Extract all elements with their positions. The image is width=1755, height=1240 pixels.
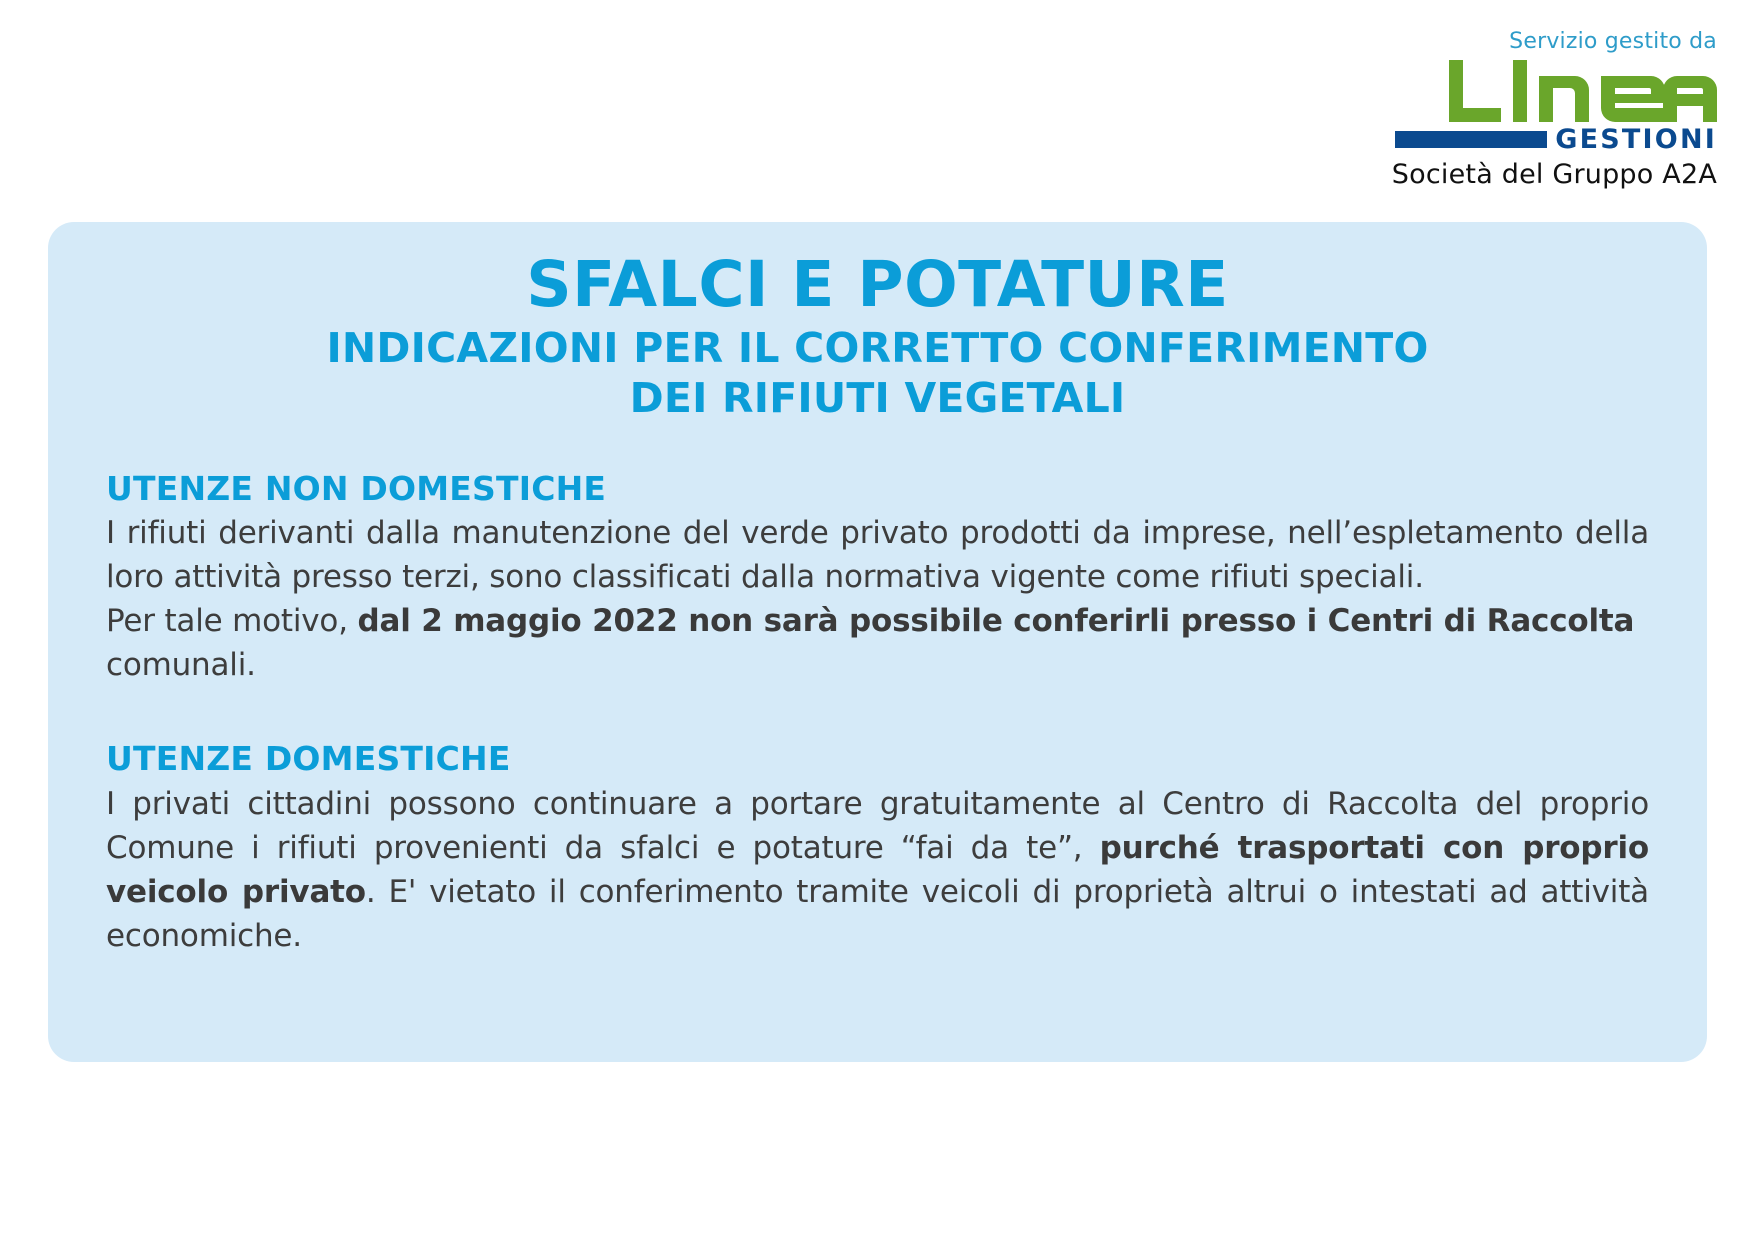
gestioni-row: GESTIONI	[1392, 126, 1717, 153]
paragraph-non-domestiche-1: I rifiuti derivanti dalla manutenzione d…	[106, 511, 1649, 599]
section-utenze-domestiche: UTENZE DOMESTICHE I privati cittadini po…	[106, 739, 1649, 958]
section-heading-domestiche: UTENZE DOMESTICHE	[106, 739, 1649, 779]
gestioni-label: GESTIONI	[1555, 126, 1717, 153]
text-run: Per tale motivo,	[106, 603, 358, 639]
logo-blue-bar	[1395, 131, 1547, 148]
linea-wordmark-icon	[1392, 60, 1717, 122]
page-subtitle-line-1: INDICAZIONI PER IL CORRETTO CONFERIMENTO	[106, 323, 1649, 373]
societa-gruppo-label: Società del Gruppo A2A	[1392, 160, 1717, 190]
paragraph-domestiche-1: I privati cittadini possono continuare a…	[106, 782, 1649, 958]
page-title: SFALCI E POTATURE	[106, 250, 1649, 321]
info-panel: SFALCI E POTATURE INDICAZIONI PER IL COR…	[48, 222, 1707, 1062]
text-run: comunali.	[106, 647, 256, 683]
text-run-bold: dal 2 maggio 2022 non sarà possibile con…	[358, 603, 1635, 639]
paragraph-non-domestiche-2: Per tale motivo, dal 2 maggio 2022 non s…	[106, 599, 1649, 687]
page-subtitle-line-2: DEI RIFIUTI VEGETALI	[106, 373, 1649, 423]
header-logo-block: Servizio gestito da GEST	[1295, 0, 1755, 190]
linea-gestioni-logo: GESTIONI Società del Gruppo A2A	[1392, 60, 1717, 190]
servizio-gestito-label: Servizio gestito da	[1295, 30, 1717, 54]
text-run: I rifiuti derivanti dalla manutenzione d…	[106, 515, 1649, 595]
section-utenze-non-domestiche: UTENZE NON DOMESTICHE I rifiuti derivant…	[106, 469, 1649, 688]
section-heading-non-domestiche: UTENZE NON DOMESTICHE	[106, 469, 1649, 509]
